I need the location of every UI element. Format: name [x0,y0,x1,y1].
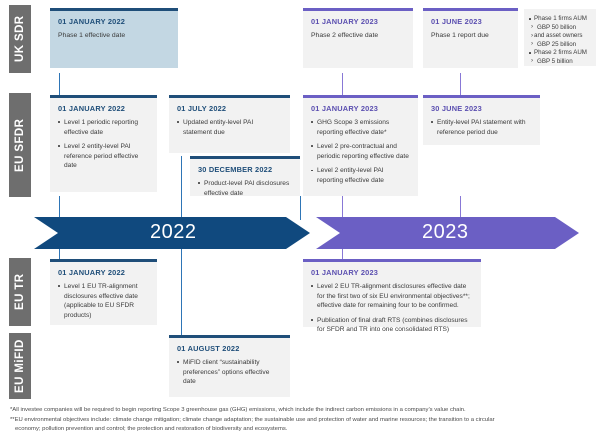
milestone-bullets: Product-level PAI disclosures effective … [198,179,292,198]
note-bullet: Phase 1 firms AUM [529,15,591,24]
row-label-eu-sfdr: EU SFDR [9,93,31,197]
footnotes: *All investee companies will be required… [10,406,594,435]
milestone-bullet: Publication of final draft RTS (combines… [311,316,473,335]
footnote-2: **EU environmental objectives include: c… [10,416,594,426]
milestone-date: 30 DECEMBER 2022 [198,166,292,174]
footnote-2-cont: economy; pollution prevention and contro… [10,425,594,435]
milestone-bullet: Level 2 pre-contractual and periodic rep… [311,142,410,161]
milestone-text: Phase 2 effective date [311,31,405,41]
timeline-diagram: UK SDR EU SFDR EU TR EU MiFID 01 JANUARY… [0,0,602,445]
note-continuation: and asset owners [529,32,591,41]
milestone-card[interactable]: 30 JUNE 2023 Entity-level PAI statement … [423,95,540,145]
milestone-card[interactable]: 01 JANUARY 2022 Phase 1 effective date [50,8,178,68]
row-label-uk-sdr: UK SDR [9,5,31,73]
milestone-date: 01 JULY 2022 [177,105,282,113]
connector-uk-sdr-2023-jun [460,73,461,95]
milestone-bullet: Entity-level PAI statement with referenc… [431,118,532,137]
milestone-bullet: Level 2 entity-level PAI reporting effec… [311,166,410,185]
uk-sdr-aum-note: Phase 1 firms AUM GBP 50 billion and ass… [524,9,596,66]
milestone-card[interactable]: 01 JANUARY 2023 Phase 2 effective date [303,8,413,68]
milestone-bullets: Level 1 periodic reporting effective dat… [58,118,149,171]
year-timeline-band: 2022 2023 [34,217,579,249]
milestone-bullet: Level 2 EU TR-alignment disclosures effe… [311,282,473,311]
milestone-card[interactable]: 01 JANUARY 2023 Level 2 EU TR-alignment … [303,259,481,327]
milestone-date: 01 JANUARY 2022 [58,105,149,113]
milestone-date: 01 JANUARY 2023 [311,269,473,277]
row-label-text: EU SFDR [14,118,26,171]
milestone-card[interactable]: 01 JUNE 2023 Phase 1 report due [423,8,518,68]
milestone-date: 01 JANUARY 2022 [58,269,149,277]
milestone-card[interactable]: 01 JANUARY 2022 Level 1 periodic reporti… [50,95,157,192]
row-label-text: EU TR [14,274,26,311]
milestone-bullet: Level 1 EU TR-alignment disclosures effe… [58,282,149,320]
connector-uk-sdr-2023-jan [342,73,343,95]
milestone-bullet: Updated entity-level PAI statement due [177,118,282,137]
connector-eu-sfdr-2022-jul [181,156,182,220]
milestone-date: 01 JANUARY 2022 [58,18,170,26]
year-label-2023: 2023 [422,221,469,244]
row-label-eu-mifid: EU MiFID [9,333,31,399]
note-subitem: GBP 25 billion [529,41,591,50]
connector-uk-sdr-2022 [59,73,60,95]
milestone-date: 01 JANUARY 2023 [311,18,405,26]
milestone-date: 01 JUNE 2023 [431,18,510,26]
milestone-bullet: MiFID client “sustainability preferences… [177,358,282,387]
milestone-card[interactable]: 01 JULY 2022 Updated entity-level PAI st… [169,95,290,153]
year-arrow-shapes [34,217,579,249]
note-subitem: GBP 5 billion [529,58,591,67]
milestone-date: 30 JUNE 2023 [431,105,532,113]
milestone-bullet: Level 1 periodic reporting effective dat… [58,118,149,137]
row-label-text: EU MiFID [14,339,26,393]
year-label-2022: 2022 [150,221,197,244]
row-label-text: UK SDR [14,16,26,63]
milestone-bullets: MiFID client “sustainability preferences… [177,358,282,387]
milestone-bullets: Level 1 EU TR-alignment disclosures effe… [58,282,149,320]
milestone-bullet: GHG Scope 3 emissions reporting effectiv… [311,118,410,137]
milestone-card[interactable]: 01 JANUARY 2023 GHG Scope 3 emissions re… [303,95,418,196]
milestone-date: 01 JANUARY 2023 [311,105,410,113]
milestone-text: Phase 1 report due [431,31,510,41]
milestone-bullet: Level 2 entity-level PAI reference perio… [58,142,149,171]
row-label-eu-tr: EU TR [9,258,31,326]
footnote-1: *All investee companies will be required… [10,406,594,416]
connector-eu-mifid-2022 [181,247,182,335]
milestone-text: Phase 1 effective date [58,31,170,41]
milestone-bullets: Entity-level PAI statement with referenc… [431,118,532,137]
note-subitem: GBP 50 billion [529,24,591,33]
milestone-card[interactable]: 01 JANUARY 2022 Level 1 EU TR-alignment … [50,259,157,325]
milestone-bullets: Updated entity-level PAI statement due [177,118,282,137]
milestone-bullets: Level 2 EU TR-alignment disclosures effe… [311,282,473,335]
milestone-date: 01 AUGUST 2022 [177,345,282,353]
milestone-bullets: GHG Scope 3 emissions reporting effectiv… [311,118,410,185]
note-bullet: Phase 2 firms AUM [529,49,591,58]
milestone-card[interactable]: 30 DECEMBER 2022 Product-level PAI discl… [190,156,300,196]
note-list: Phase 1 firms AUM GBP 50 billion and ass… [529,15,591,66]
milestone-bullet: Product-level PAI disclosures effective … [198,179,292,198]
milestone-card[interactable]: 01 AUGUST 2022 MiFID client “sustainabil… [169,335,290,397]
